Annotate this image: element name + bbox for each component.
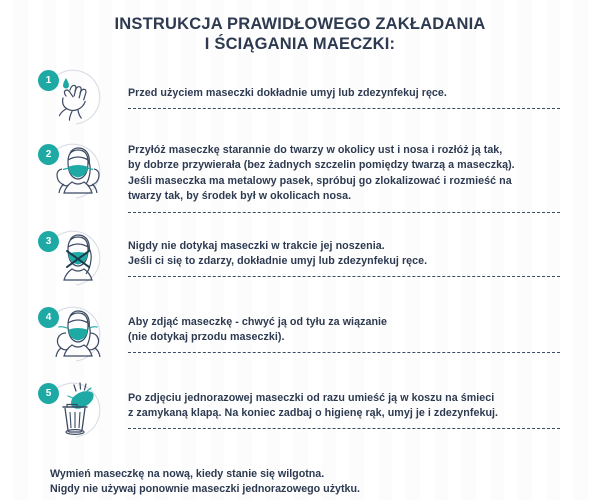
step-3-text: Nigdy nie dotykaj maseczki w trakcie jej… [128,239,560,270]
step-3-icon-wrap: 3 [38,227,124,289]
step-2-line-2: by dobrze przywierała (bez żadnych szcze… [128,158,560,173]
step-item-5: 5 Po zdjęciu jednorazowej maseczki od ra… [0,379,600,441]
step-3-body: Nigdy nie dotykaj maseczki w trakcie jej… [124,227,600,278]
step-2-text: Przyłóż maseczkę starannie do twarzy w o… [128,143,560,205]
page-title-line-2: I ŚCIĄGANIA MAECZKI: [0,34,600,54]
step-5-icon-wrap: 5 [38,379,124,441]
step-2-body: Przyłóż maseczkę starannie do twarzy w o… [124,140,600,213]
step-2-divider [128,212,560,213]
step-4-line-1: Aby zdjąć maseczkę - chwyć ją od tyłu za… [128,315,560,330]
step-5-text: Po zdjęciu jednorazowej maseczki od razu… [128,391,560,422]
step-3-number-badge: 3 [38,231,59,252]
step-2-line-3: Jeśli maseczka ma metalowy pasek, spróbu… [128,174,560,189]
step-4-line-2: (nie dotykaj przodu maseczki). [128,330,560,345]
step-2-number-badge: 2 [38,144,59,165]
step-item-2: 2 Przyłóż maseczkę starannie [0,140,600,213]
step-5-body: Po zdjęciu jednorazowej maseczki od razu… [124,379,600,430]
step-4-divider [128,352,560,353]
step-5-line-1: Po zdjęciu jednorazowej maseczki od razu… [128,391,560,406]
footer-note: Wymień maseczkę na nową, kiedy stanie si… [0,467,600,498]
step-3-divider [128,276,560,277]
step-1-number-badge: 1 [38,70,59,91]
step-2-line-1: Przyłóż maseczkę starannie do twarzy w o… [128,143,560,158]
footer-line-2: Nigdy nie używaj ponownie maseczki jedno… [50,482,560,498]
step-2-line-4: twarzy tak, by środek był w okolicach no… [128,189,560,204]
page-title-line-1: INSTRUKCJA PRAWIDŁOWEGO ZAKŁADANIA [0,14,600,34]
steps-list: 1 Przed użyciem maseczki dokładnie umyj [0,66,600,441]
step-4-text: Aby zdjąć maseczkę - chwyć ją od tyłu za… [128,315,560,346]
infographic-page: INSTRUKCJA PRAWIDŁOWEGO ZAKŁADANIA I ŚCI… [0,0,600,500]
footer-line-1: Wymień maseczkę na nową, kiedy stanie si… [50,467,560,483]
step-5-line-2: z zamykaną klapą. Na koniec zadbaj o hig… [128,406,560,421]
step-5-number-badge: 5 [38,383,59,404]
step-3-line-2: Jeśli ci się to zdarzy, dokładnie umyj l… [128,254,560,269]
step-5-divider [128,428,560,429]
step-3-line-1: Nigdy nie dotykaj maseczki w trakcie jej… [128,239,560,254]
step-1-divider [128,108,560,109]
step-item-1: 1 Przed użyciem maseczki dokładnie umyj [0,66,600,128]
step-item-4: 4 Aby zdjąć maseczkę - chwyć [0,303,600,365]
step-1-text: Przed użyciem maseczki dokładnie umyj lu… [128,86,560,101]
step-1-body: Przed użyciem maseczki dokładnie umyj lu… [124,66,600,109]
step-2-icon-wrap: 2 [38,140,124,202]
step-4-icon-wrap: 4 [38,303,124,365]
step-1-line-1: Przed użyciem maseczki dokładnie umyj lu… [128,86,560,101]
step-4-number-badge: 4 [38,307,59,328]
step-1-icon-wrap: 1 [38,66,124,128]
page-title: INSTRUKCJA PRAWIDŁOWEGO ZAKŁADANIA I ŚCI… [0,0,600,54]
step-4-body: Aby zdjąć maseczkę - chwyć ją od tyłu za… [124,303,600,354]
step-item-3: 3 Nigdy nie dotykaj maseczki w trakcie j… [0,227,600,289]
